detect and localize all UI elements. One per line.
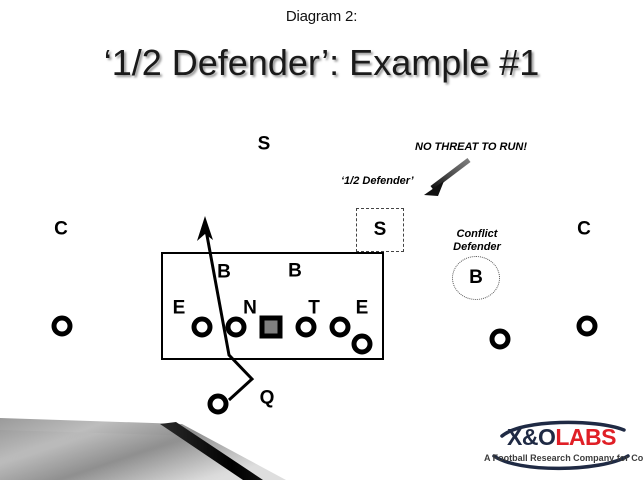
offense-left-tackle bbox=[192, 317, 213, 338]
xo-labs-logo: X&OLABS A Football Research Company for … bbox=[484, 420, 639, 475]
callout-half-defender: ‘1/2 Defender’ bbox=[341, 175, 414, 188]
conflict-defender-highlight: B bbox=[452, 256, 500, 300]
safety-box-highlight: S bbox=[356, 208, 404, 252]
defender-end-right: E bbox=[356, 299, 369, 318]
diagram-subtitle: Diagram 2: bbox=[0, 8, 643, 25]
arrow-no-threat-to-run bbox=[424, 160, 469, 196]
defender-end-left: E bbox=[173, 299, 186, 318]
logo-labs-text: LABS bbox=[555, 424, 616, 450]
callout-conflict-defender-line2: Defender bbox=[453, 241, 501, 254]
offense-left-guard bbox=[226, 317, 247, 338]
offense-receiver-left bbox=[52, 316, 73, 337]
defender-conflict-backer-label: B bbox=[469, 267, 483, 289]
offense-right-tackle bbox=[330, 317, 351, 338]
offense-right-guard bbox=[296, 317, 317, 338]
logo-tagline: A Football Research Company for Coaches bbox=[484, 453, 639, 463]
offense-quarterback-label: Q bbox=[260, 389, 275, 408]
page-title: ‘1/2 Defender’: Example #1 bbox=[0, 42, 643, 84]
offense-center bbox=[260, 316, 283, 339]
defender-corner-right: C bbox=[577, 220, 591, 239]
diagram-slide: Diagram 2: ‘1/2 Defender’: Example #1 S … bbox=[0, 0, 643, 480]
defender-backer-left: B bbox=[217, 263, 231, 282]
callout-no-threat-to-run: NO THREAT TO RUN! bbox=[415, 141, 527, 154]
defender-nose: N bbox=[243, 299, 257, 318]
offense-slot-receiver bbox=[490, 329, 511, 350]
offense-tight-end bbox=[352, 334, 373, 355]
defender-tackle: T bbox=[308, 299, 320, 318]
logo-wordmark: X&OLABS bbox=[484, 426, 639, 449]
offense-receiver-right bbox=[577, 316, 598, 337]
offense-quarterback bbox=[208, 394, 229, 415]
defender-backer-right: B bbox=[288, 262, 302, 281]
callout-conflict-defender-line1: Conflict bbox=[457, 228, 498, 241]
defender-corner-left: C bbox=[54, 220, 68, 239]
defender-safety-deep: S bbox=[258, 135, 271, 154]
defender-safety-box-label: S bbox=[374, 219, 387, 241]
logo-xo-text: X&O bbox=[507, 424, 555, 450]
